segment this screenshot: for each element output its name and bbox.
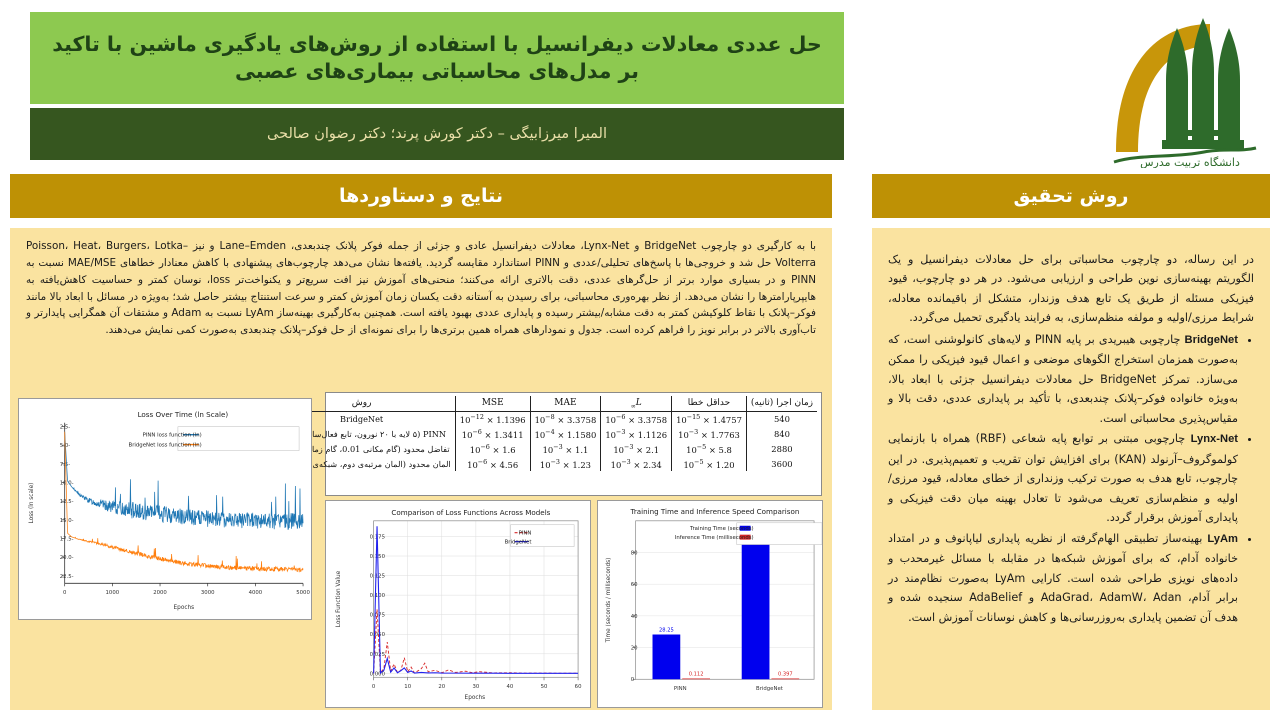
col-min-error: حداقل خطا — [672, 396, 747, 411]
chart-title: Comparison of Loss Functions Across Mode… — [391, 508, 550, 517]
logo-caption-text: دانشگاه تربیت مدرس — [1140, 156, 1240, 168]
table-header-row: زمان اجرا (ثانیه) حداقل خطا L∞ MAE MSE ر… — [269, 396, 818, 411]
chart-compare-svg: Comparison of Loss Functions Across Mode… — [326, 501, 590, 707]
y-tick-label: -2.5 — [60, 425, 71, 431]
bar-label-inference: 0.112 — [689, 672, 704, 678]
x-tick-label: BridgeNet — [756, 686, 783, 692]
section-header-results: نتایج و دستاوردها — [10, 174, 832, 218]
y-tick-label: -15.0 — [60, 518, 74, 524]
cell-min-error: 1.7763 × 10−3 — [672, 427, 747, 442]
poster-header: حل عددی معادلات دیفرانسیل با استفاده از … — [0, 0, 1280, 168]
section-header-method: روش تحقیق — [872, 174, 1270, 218]
x-tick-label: 0 — [63, 590, 67, 596]
legend-label: PINN loss function (ln) — [143, 433, 202, 439]
x-tick-label: 30 — [472, 684, 479, 690]
y-tick-label: 0.025 — [370, 652, 385, 658]
method-bullet-title: LyAm — [1207, 530, 1238, 549]
method-bullet-lynx-net: Lynx-Net چارچوبی مبتنی بر توابع پایه شعا… — [888, 429, 1238, 527]
y-tick-label: 0.050 — [370, 632, 386, 638]
x-tick-label: PINN — [674, 686, 687, 692]
x-tick-label: 3000 — [201, 590, 215, 596]
cell-mse: 1.6 × 10−6 — [455, 441, 530, 456]
x-tick-label: 60 — [575, 684, 582, 690]
legend-label: BridgeNet loss function (ln) — [129, 443, 202, 449]
y-tick-label: -10.0 — [60, 481, 74, 487]
cell-mae: 3.3758 × 10−8 — [530, 411, 601, 426]
cell-min-error: 1.4757 × 10−15 — [672, 411, 747, 426]
section-header-results-label: نتایج و دستاوردها — [339, 185, 503, 207]
chart-title: Loss Over Time (ln Scale) — [138, 410, 229, 419]
university-logo: دانشگاه تربیت مدرس — [1100, 2, 1280, 168]
x-tick-label: 2000 — [153, 590, 167, 596]
y-tick-label: -17.5 — [60, 537, 74, 543]
x-tick-label: 1000 — [106, 590, 120, 596]
cell-linf: 2.1 × 10−3 — [601, 441, 672, 456]
col-runtime: زمان اجرا (ثانیه) — [746, 396, 817, 411]
chart-x-label: Epochs — [465, 695, 486, 701]
results-table: زمان اجرا (ثانیه) حداقل خطا L∞ MAE MSE ر… — [269, 396, 818, 471]
y-tick-label: 0.000 — [370, 671, 386, 677]
poster-title-bar: حل عددی معادلات دیفرانسیل با استفاده از … — [30, 12, 844, 104]
x-tick-label: 5000 — [296, 590, 310, 596]
y-tick-label: -22.5 — [60, 574, 74, 580]
method-bullet-text: بهینه‌ساز تطبیقی الهام‌گرفته از نظریه پا… — [888, 532, 1238, 624]
cell-runtime: 840 — [746, 427, 817, 442]
cell-mse: 1.3411 × 10−6 — [455, 427, 530, 442]
chart-x-label: Epochs — [174, 605, 195, 611]
cell-mae: 1.23 × 10−3 — [530, 456, 601, 471]
legend-label: BridgeNet — [505, 540, 532, 546]
x-tick-label: 40 — [507, 684, 514, 690]
bar-training-PINN — [653, 635, 681, 680]
chart-loss-svg: Loss Over Time (ln Scale) -2.5-5.0-7.5-1… — [19, 399, 311, 619]
cell-linf: 1.1126 × 10−3 — [601, 427, 672, 442]
y-tick-label: -7.5 — [60, 462, 71, 468]
y-tick-label: 60 — [631, 582, 638, 588]
section-header-method-label: روش تحقیق — [1014, 185, 1129, 207]
table-row: 540 1.4757 × 10−15 3.3758 × 10−6 3.3758 … — [269, 411, 818, 426]
cell-linf: 2.34 × 10−3 — [601, 456, 672, 471]
chart-loss-over-time: Loss Over Time (ln Scale) -2.5-5.0-7.5-1… — [18, 398, 312, 620]
bar-inference-BridgeNet — [771, 678, 799, 679]
table-row: 2880 5.8 × 10−5 2.1 × 10−3 1.1 × 10−3 1.… — [269, 441, 818, 456]
cell-min-error: 5.8 × 10−5 — [672, 441, 747, 456]
x-tick-label: 4000 — [249, 590, 263, 596]
table-row: 840 1.7763 × 10−3 1.1126 × 10−3 1.1580 ×… — [269, 427, 818, 442]
authors-line: المیرا میرزابیگی – دکتر کورش پرند؛ دکتر … — [267, 126, 607, 142]
legend-label: Inference Time (milliseconds) — [675, 535, 754, 541]
method-bullet-lyam: LyAm بهینه‌ساز تطبیقی الهام‌گرفته از نظر… — [888, 529, 1238, 627]
chart-y-label: Loss Function Value — [336, 570, 342, 627]
page-title: حل عددی معادلات دیفرانسیل با استفاده از … — [44, 31, 830, 85]
x-tick-label: 10 — [404, 684, 411, 690]
legend-label: Training Time (seconds) — [689, 526, 754, 532]
results-table-container: زمان اجرا (ثانیه) حداقل خطا L∞ MAE MSE ر… — [325, 392, 822, 496]
cell-mae: 1.1 × 10−3 — [530, 441, 601, 456]
method-bullet-list: BridgeNet چارچوبی هیبریدی بر پایه PINN و… — [888, 330, 1254, 627]
table-body: 540 1.4757 × 10−15 3.3758 × 10−6 3.3758 … — [269, 411, 818, 471]
method-bullet-title: BridgeNet — [1185, 331, 1238, 350]
y-tick-label: 0.100 — [370, 593, 386, 599]
y-tick-label: -20.0 — [60, 555, 74, 561]
cell-mae: 1.1580 × 10−4 — [530, 427, 601, 442]
chart-training-time: Training Time and Inference Speed Compar… — [597, 500, 823, 708]
method-bullet-text: چارچوبی مبتنی بر توابع پایه شعاعی (RBF) … — [888, 432, 1238, 524]
chart-y-label: Loss (ln scale) — [29, 483, 35, 524]
method-card: در این رساله، دو چارچوب محاسباتی برای حل… — [872, 228, 1270, 710]
y-tick-label: 0 — [631, 677, 635, 683]
legend-label: PINN — [519, 531, 532, 537]
col-linf: L∞ — [601, 396, 672, 411]
method-intro: در این رساله، دو چارچوب محاسباتی برای حل… — [888, 250, 1254, 328]
tarbiat-modares-logo-icon: دانشگاه تربیت مدرس — [1100, 2, 1280, 168]
cell-mse: 4.56 × 10−6 — [455, 456, 530, 471]
method-bullet-bridgenet: BridgeNet چارچوبی هیبریدی بر پایه PINN و… — [888, 330, 1238, 428]
cell-mse: 1.1396 × 10−12 — [455, 411, 530, 426]
y-tick-label: 40 — [631, 614, 638, 620]
table-header: زمان اجرا (ثانیه) حداقل خطا L∞ MAE MSE ر… — [269, 396, 818, 411]
y-tick-label: 0.125 — [370, 574, 385, 580]
cell-min-error: 1.20 × 10−5 — [672, 456, 747, 471]
chart-loss-comparison: Comparison of Loss Functions Across Mode… — [325, 500, 591, 708]
x-tick-label: 50 — [541, 684, 548, 690]
poster-authors-bar: المیرا میرزابیگی – دکتر کورش پرند؛ دکتر … — [30, 108, 844, 160]
chart-time-svg: Training Time and Inference Speed Compar… — [598, 501, 822, 707]
x-tick-label: 0 — [372, 684, 376, 690]
table-row: 3600 1.20 × 10−5 2.34 × 10−3 1.23 × 10−3… — [269, 456, 818, 471]
col-mae: MAE — [530, 396, 601, 411]
bar-label-training: 28.25 — [659, 628, 674, 634]
chart-legend: PINNBridgeNet — [505, 525, 575, 547]
chart-y-label: Time (seconds / milliseconds) — [606, 558, 612, 644]
cell-linf: 3.3758 × 10−6 — [601, 411, 672, 426]
y-tick-label: 20 — [631, 646, 638, 652]
col-mse: MSE — [455, 396, 530, 411]
results-paragraph: با به کارگیری دو چارچوب BridgeNet و Lynx… — [22, 238, 820, 339]
bar-inference-PINN — [682, 678, 710, 679]
cell-runtime: 540 — [746, 411, 817, 426]
x-tick-label: 20 — [438, 684, 445, 690]
method-body: در این رساله، دو چارچوب محاسباتی برای حل… — [888, 250, 1254, 627]
bar-training-BridgeNet — [742, 532, 770, 679]
cell-runtime: 3600 — [746, 456, 817, 471]
cell-runtime: 2880 — [746, 441, 817, 456]
bar-label-inference: 0.397 — [778, 672, 793, 678]
method-bullet-title: Lynx-Net — [1191, 430, 1238, 449]
y-tick-label: 80 — [631, 550, 638, 556]
chart-title: Training Time and Inference Speed Compar… — [630, 507, 800, 516]
